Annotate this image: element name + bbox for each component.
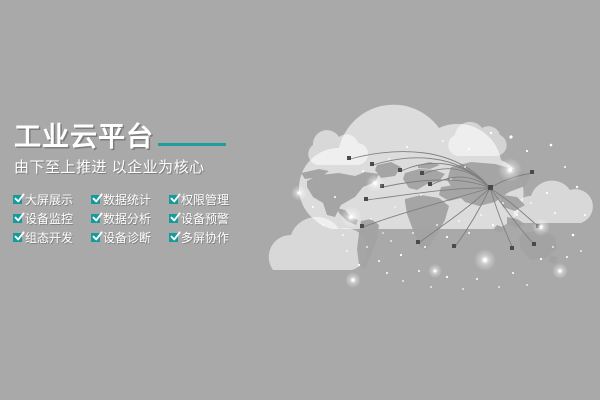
feature-label: 设备诊断 [103,231,151,245]
check-icon [13,213,24,224]
check-icon [169,213,180,224]
title-row: 工业云平台 [0,118,250,152]
check-icon [169,194,180,205]
check-icon [91,194,102,205]
cloud-right [514,181,593,223]
feature-item[interactable]: 组态开发 [13,228,85,247]
check-icon [91,232,102,243]
feature-item[interactable]: 大屏展示 [13,190,85,209]
feature-item[interactable]: 数据统计 [91,190,163,209]
feature-list: 大屏展示 数据统计 权限管理 [0,190,250,247]
feature-item[interactable]: 设备诊断 [91,228,163,247]
page-subtitle: 由下至上推进 以企业为核心 [0,158,250,178]
feature-label: 设备预警 [181,212,229,226]
feature-label: 大屏展示 [25,193,73,207]
feature-label: 多屏协作 [181,231,229,245]
feature-label: 设备监控 [25,212,73,226]
feature-item[interactable]: 设备监控 [13,209,85,228]
feature-label: 组态开发 [25,231,73,245]
promo-banner: 工业云平台 由下至上推进 以企业为核心 大屏展示 数据统计 [0,0,600,400]
title-accent-rule [158,143,226,146]
feature-item[interactable]: 权限管理 [169,190,241,209]
feature-item[interactable]: 设备预警 [169,209,241,228]
check-icon [13,194,24,205]
feature-label: 权限管理 [181,193,229,207]
feature-item[interactable]: 多屏协作 [169,228,241,247]
feature-item[interactable]: 数据分析 [91,209,163,228]
feature-label: 数据分析 [103,212,151,226]
cloud-world-network-illustration [255,75,600,305]
feature-label: 数据统计 [103,193,151,207]
page-title: 工业云平台 [14,122,154,152]
hero-text-block: 工业云平台 由下至上推进 以企业为核心 大屏展示 数据统计 [0,118,250,247]
check-icon [91,213,102,224]
check-icon [169,232,180,243]
check-icon [13,232,24,243]
